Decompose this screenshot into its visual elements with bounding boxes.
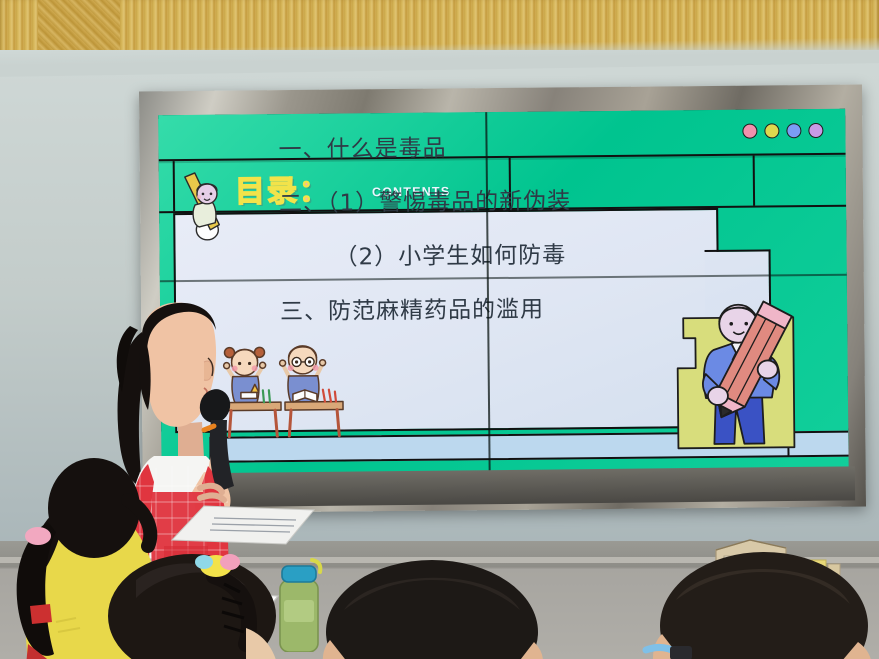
- presentation-slide: 目录： CONTENTS: [158, 109, 849, 488]
- toc-item-4: 三、防范麻精药品的滥用: [280, 290, 544, 327]
- toc-item-2: 二、（1）警惕毒品的新伪装: [279, 181, 571, 218]
- dot-pink-icon: [742, 124, 757, 139]
- slide-decor-dots: [742, 123, 823, 139]
- kid-with-yellow-pencil-illustration: [177, 167, 234, 256]
- toc-item-3: （2）小学生如何防毒: [334, 235, 566, 271]
- student-right-boy: [636, 538, 879, 659]
- toc-item-1: 一、什么是毒品: [278, 129, 446, 165]
- man-holding-large-pencil-illustration: [665, 297, 817, 458]
- dot-blue-icon: [786, 123, 801, 138]
- slide-title-right-cell: [753, 155, 846, 206]
- dot-purple-icon: [808, 123, 823, 138]
- student-center-boy: [318, 548, 548, 659]
- student-left-braid: [96, 540, 286, 659]
- display-screen[interactable]: 目录： CONTENTS: [158, 109, 849, 488]
- dot-yellow-icon: [764, 123, 779, 138]
- classroom-scene: 目录： CONTENTS: [0, 0, 879, 659]
